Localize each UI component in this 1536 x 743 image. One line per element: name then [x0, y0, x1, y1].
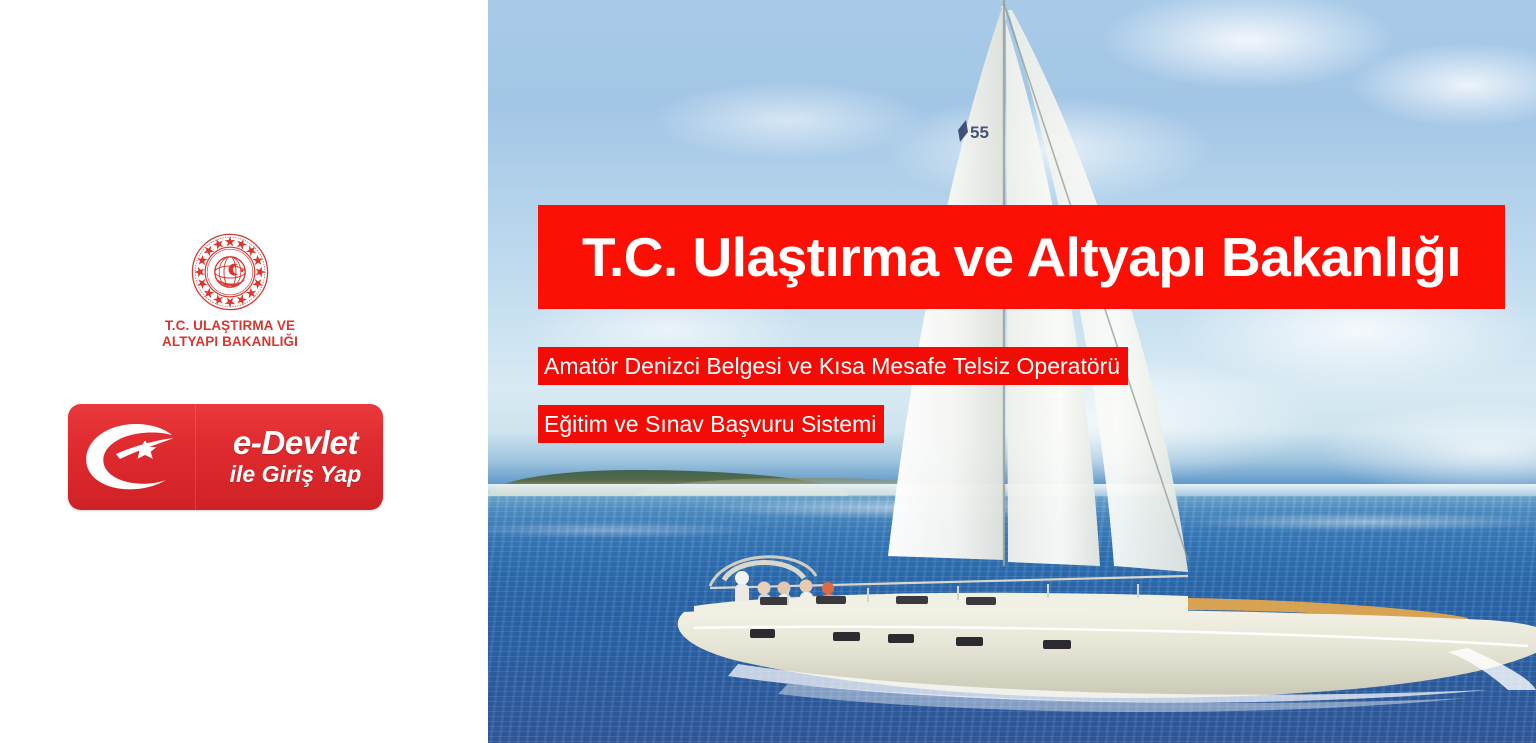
sea-ripples	[488, 496, 1536, 743]
login-landing-page: T.C. ULAŞTIRMA VE ALTYAPI BAKANLIĞI e-De…	[0, 0, 1536, 743]
hero-subtitle-banner-2: Eğitim ve Sınav Başvuru Sistemi	[538, 405, 884, 443]
edevlet-button-text: e-Devlet ile Giriş Yap	[196, 426, 383, 488]
left-login-panel: T.C. ULAŞTIRMA VE ALTYAPI BAKANLIĞI e-De…	[0, 0, 488, 743]
ministry-name-line1: T.C. ULAŞTIRMA VE	[162, 318, 298, 334]
hero-subtitle-banner-1: Amatör Denizci Belgesi ve Kısa Mesafe Te…	[538, 347, 1128, 385]
hero-subtitle-1: Amatör Denizci Belgesi ve Kısa Mesafe Te…	[544, 353, 1120, 380]
page-title: T.C. Ulaştırma ve Altyapı Bakanlığı	[582, 225, 1461, 289]
edevlet-label-primary: e-Devlet	[208, 426, 383, 460]
edevlet-login-button[interactable]: e-Devlet ile Giriş Yap	[68, 404, 383, 510]
ministry-seal-globe-crescent-icon	[190, 232, 270, 312]
edevlet-label-secondary: ile Giriş Yap	[208, 461, 383, 487]
svg-text:55: 55	[970, 123, 989, 142]
ministry-name-line2: ALTYAPI BAKANLIĞI	[162, 334, 298, 350]
sea-water	[488, 496, 1536, 743]
hero-title-banner: T.C. Ulaştırma ve Altyapı Bakanlığı	[538, 205, 1505, 309]
ministry-name: T.C. ULAŞTIRMA VE ALTYAPI BAKANLIĞI	[162, 318, 298, 350]
ministry-branding: T.C. ULAŞTIRMA VE ALTYAPI BAKANLIĞI	[0, 232, 460, 350]
edevlet-e-crescent-star-icon	[68, 404, 196, 510]
hero-subtitle-2: Eğitim ve Sınav Başvuru Sistemi	[544, 411, 876, 438]
